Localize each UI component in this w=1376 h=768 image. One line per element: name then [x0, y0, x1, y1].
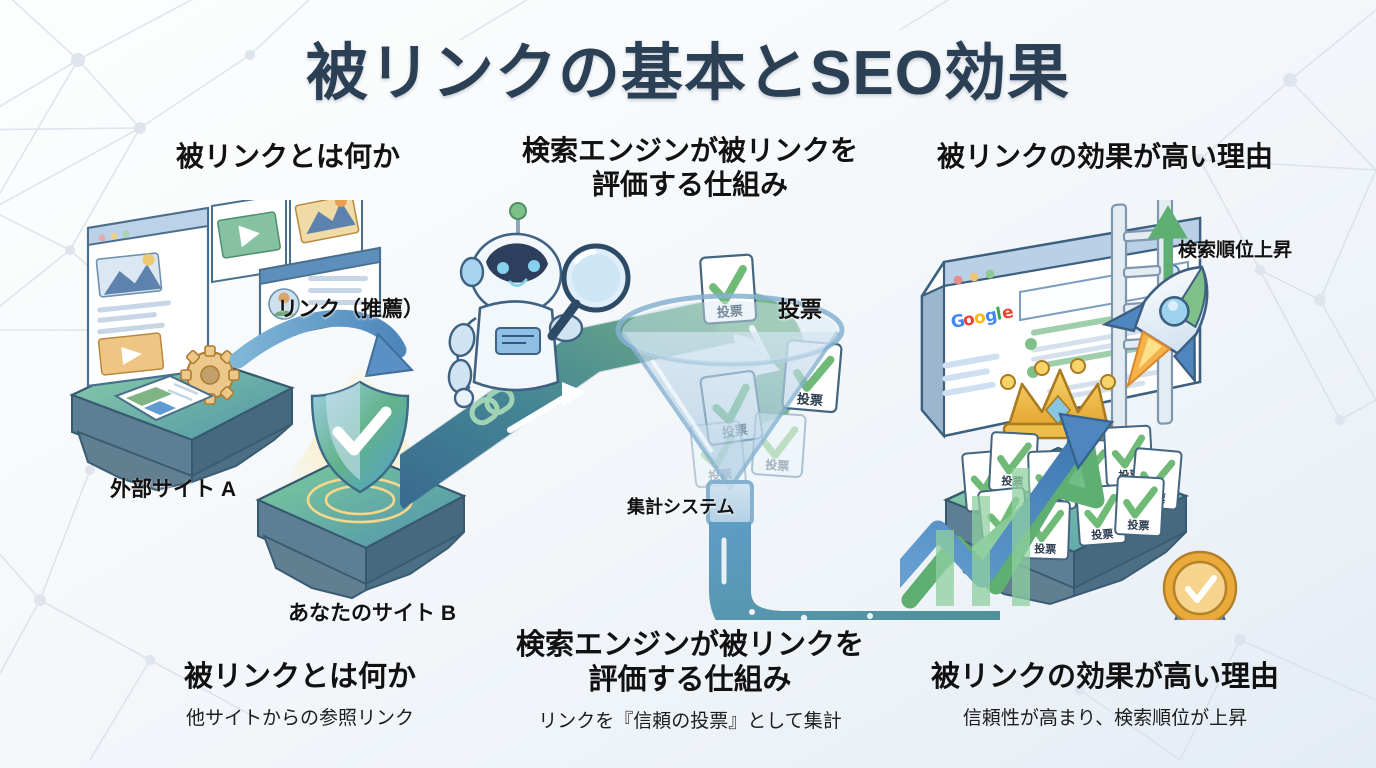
svg-text:投票: 投票	[1091, 527, 1114, 543]
footer-subtitle-3: 信頼性が高まり、検索順位が上昇	[890, 703, 1320, 730]
svg-text:投票: 投票	[1127, 518, 1150, 533]
section-heading-2-line2: 評価する仕組み	[500, 168, 880, 202]
footer-title-2-line1: 検索エンジンが被リンクを	[480, 628, 900, 663]
footer-subtitle-2: リンクを『信頼の投票』として集計	[480, 706, 900, 733]
section-heading-1: 被リンクとは何か	[98, 140, 478, 174]
label-source-site: 外部サイト A	[110, 473, 236, 503]
label-target-site: あなたのサイト B	[288, 597, 456, 627]
svg-text:投票: 投票	[765, 457, 790, 474]
award-badge-icon	[1164, 552, 1236, 620]
section-heading-3: 被リンクの効果が高い理由	[905, 140, 1305, 174]
section-heading-2: 検索エンジンが被リンクを 評価する仕組み	[500, 134, 880, 202]
footer-title-3: 被リンクの効果が高い理由	[890, 660, 1320, 695]
svg-text:投票: 投票	[1034, 541, 1056, 556]
illustration-backlink-results: G o o g l e	[900, 200, 1376, 620]
footer-title-1: 被リンクとは何か	[85, 660, 515, 695]
footer-subtitle-1: 他サイトからの参照リンク	[85, 703, 515, 730]
label-link-recommendation: リンク（推薦）	[277, 293, 424, 323]
section-heading-2-line1: 検索エンジンが被リンクを	[500, 134, 880, 168]
svg-text:投票: 投票	[796, 391, 823, 409]
label-aggregation-system: 集計システム	[627, 493, 734, 519]
infographic-canvas: 被リンクの基本とSEO効果 被リンクとは何か 検索エンジンが被リンクを 評価する…	[0, 0, 1376, 768]
footer-block-2: 検索エンジンが被リンクを 評価する仕組み リンクを『信頼の投票』として集計	[480, 628, 900, 733]
label-rank-up: 検索順位上昇	[1178, 235, 1292, 262]
footer-block-1: 被リンクとは何か 他サイトからの参照リンク	[85, 660, 515, 730]
page-title: 被リンクの基本とSEO効果	[0, 22, 1376, 112]
label-vote: 投票	[778, 292, 822, 324]
footer-block-3: 被リンクの効果が高い理由 信頼性が高まり、検索順位が上昇	[890, 660, 1320, 730]
footer-title-2-line2: 評価する仕組み	[480, 663, 900, 698]
